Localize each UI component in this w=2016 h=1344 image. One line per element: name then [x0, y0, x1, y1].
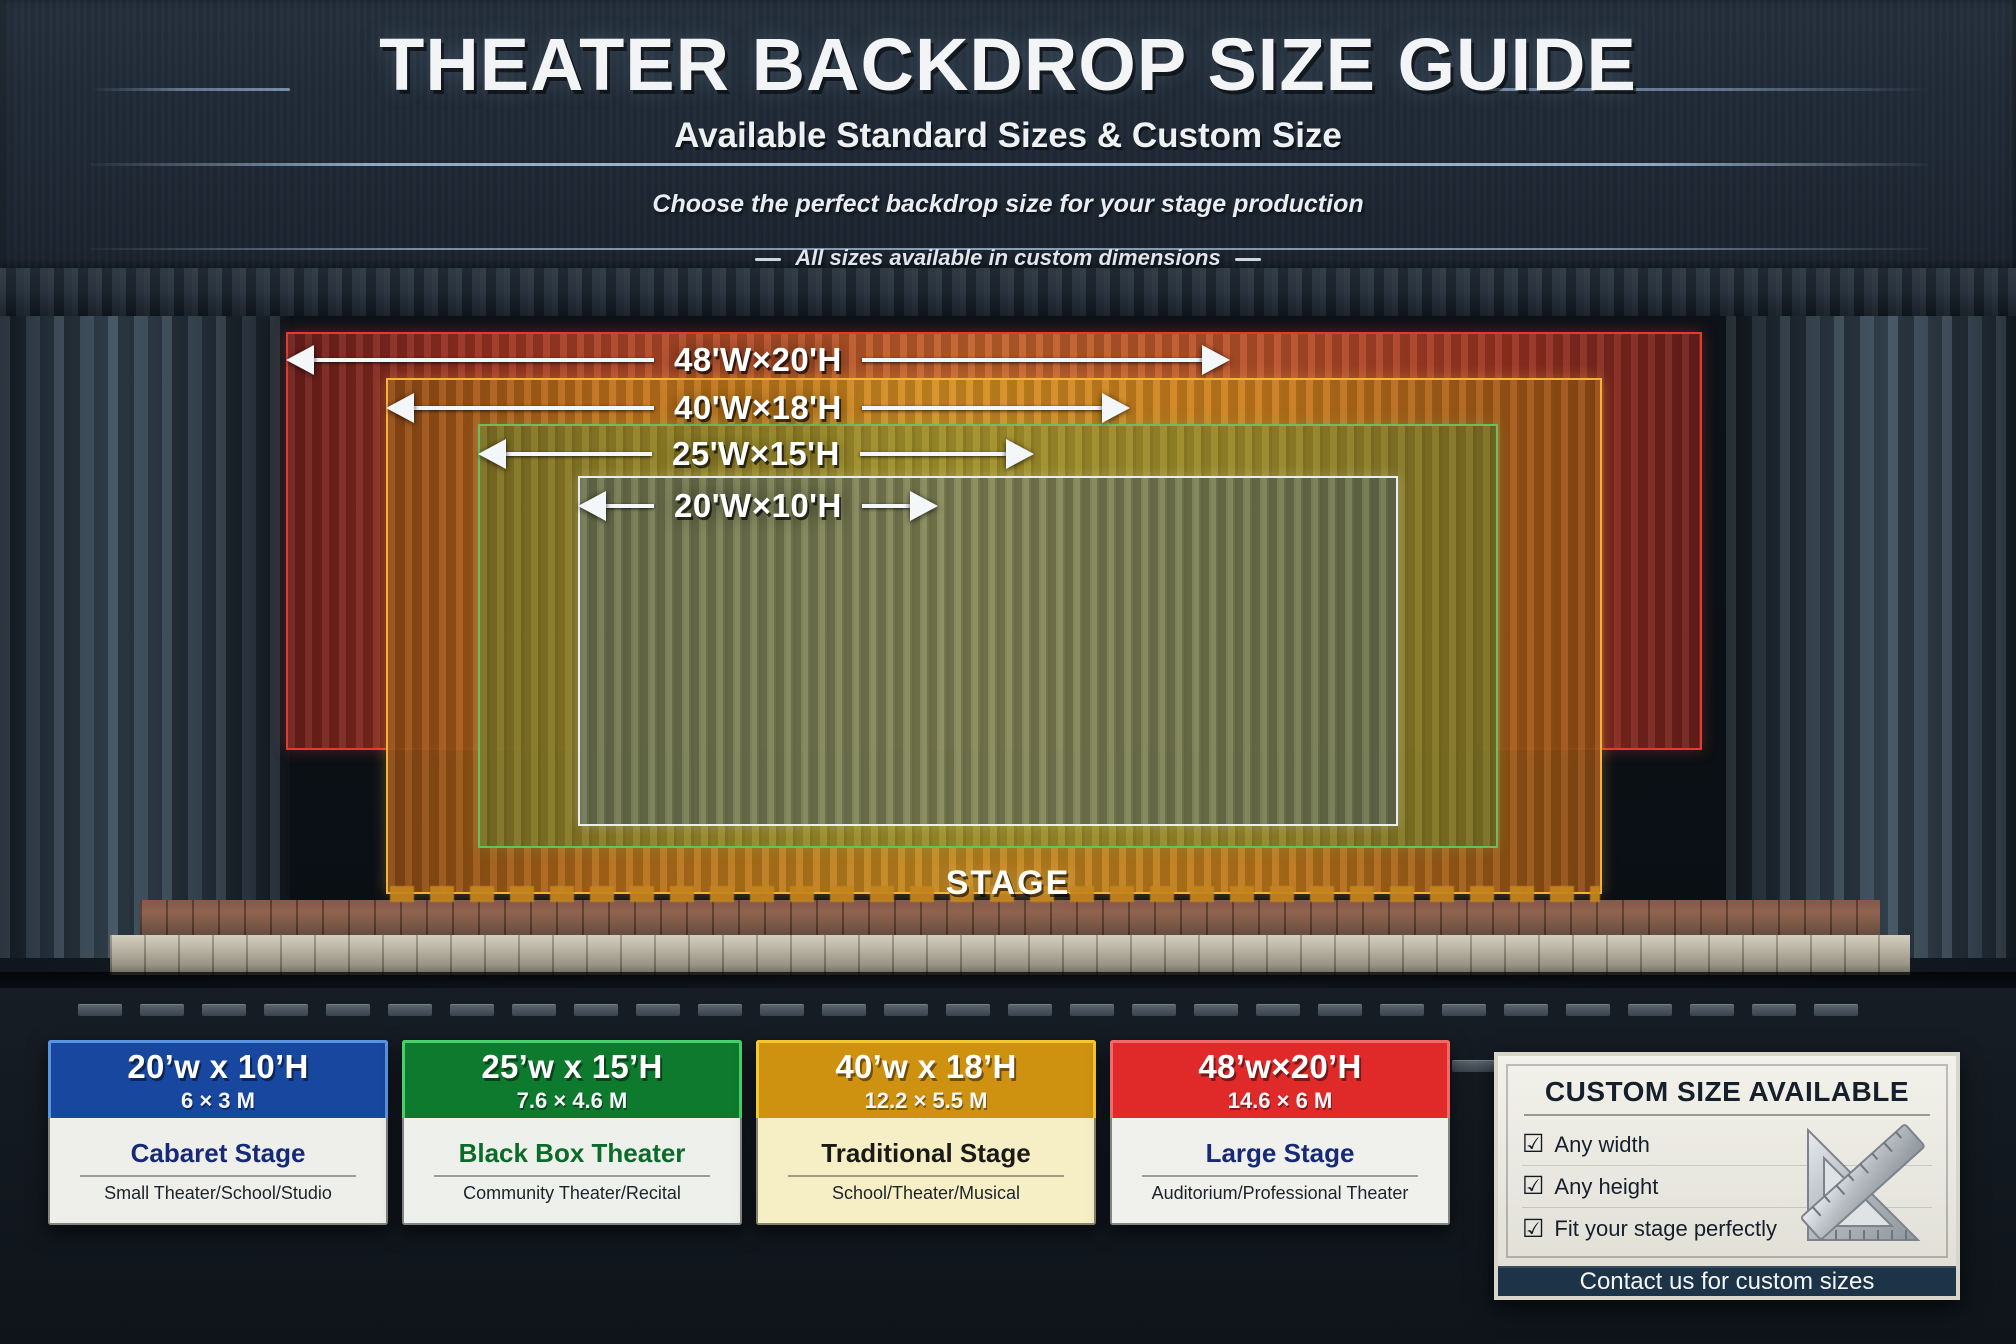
- size-card-2[interactable]: 40’w x 18’H12.2 × 5.5 MTraditional Stage…: [756, 1040, 1096, 1225]
- custom-feature-label-0: Any width: [1554, 1132, 1649, 1158]
- stage-fixture: [78, 1004, 122, 1016]
- size-card-divider-2: [788, 1175, 1063, 1177]
- curtain-right: [1726, 258, 2016, 958]
- checkbox-checked-icon[interactable]: ☑: [1522, 1217, 1544, 1242]
- stage-fixture: [140, 1004, 184, 1016]
- page-tagline: Choose the perfect backdrop size for you…: [0, 190, 2016, 219]
- custom-size-footer[interactable]: Contact us for custom sizes: [1498, 1266, 1956, 1296]
- size-card-0[interactable]: 20’w x 10’H6 × 3 MCabaret StageSmall The…: [48, 1040, 388, 1225]
- size-card-dimension-2: 40’w x 18’H: [835, 1048, 1016, 1086]
- dimension-label-40x18: 40'W×18'H: [654, 389, 862, 427]
- dimension-label-48x20: 48'W×20'H: [654, 341, 862, 379]
- dimension-row-25x15: 25'W×15'H: [506, 434, 1470, 474]
- size-card-name-0: Cabaret Stage: [131, 1138, 306, 1169]
- ruler-triangle-icon: [1786, 1116, 1938, 1252]
- stage-fixture: [574, 1004, 618, 1016]
- page-title: THEATER BACKDROP SIZE GUIDE: [0, 22, 2016, 107]
- custom-size-title: CUSTOM SIZE AVAILABLE: [1522, 1076, 1932, 1108]
- stage-fixture: [884, 1004, 928, 1016]
- stage-fixture: [1814, 1004, 1858, 1016]
- stage-fixture: [1504, 1004, 1548, 1016]
- size-card-use-0: Small Theater/School/Studio: [104, 1183, 332, 1204]
- dimension-row-20x10: 20'W×10'H: [606, 486, 1370, 526]
- size-card-name-3: Large Stage: [1206, 1138, 1355, 1169]
- stage-fixture: [1256, 1004, 1300, 1016]
- size-card-body-2: Traditional StageSchool/Theater/Musical: [756, 1118, 1096, 1225]
- custom-dimensions-note-text: All sizes available in custom dimensions: [795, 245, 1220, 270]
- stage-fixture: [760, 1004, 804, 1016]
- curtain-left: [0, 258, 290, 958]
- custom-dimensions-note: All sizes available in custom dimensions: [0, 245, 2016, 271]
- dash-right-icon: [1235, 258, 1261, 261]
- dimension-row-48x20: 48'W×20'H: [314, 340, 1674, 380]
- checkbox-checked-icon[interactable]: ☑: [1522, 1132, 1544, 1157]
- checkbox-checked-icon[interactable]: ☑: [1522, 1174, 1544, 1199]
- stage-fixture: [636, 1004, 680, 1016]
- stage-label: STAGE: [0, 864, 2016, 903]
- stage-fixture: [388, 1004, 432, 1016]
- stage-fixture: [1008, 1004, 1052, 1016]
- size-card-name-1: Black Box Theater: [459, 1138, 686, 1169]
- size-card-body-3: Large StageAuditorium/Professional Theat…: [1110, 1118, 1450, 1225]
- size-card-divider-0: [80, 1175, 355, 1177]
- size-card-head-2: 40’w x 18’H12.2 × 5.5 M: [756, 1040, 1096, 1118]
- size-card-use-3: Auditorium/Professional Theater: [1152, 1183, 1409, 1204]
- size-card-head-1: 25’w x 15’H7.6 × 4.6 M: [402, 1040, 742, 1118]
- size-card-dimension-0: 20’w x 10’H: [127, 1048, 308, 1086]
- custom-feature-label-1: Any height: [1554, 1174, 1658, 1200]
- size-card-divider-1: [434, 1175, 709, 1177]
- stage-fixture: [1380, 1004, 1424, 1016]
- page-subtitle: Available Standard Sizes & Custom Size: [0, 116, 2016, 156]
- size-card-head-0: 20’w x 10’H6 × 3 M: [48, 1040, 388, 1118]
- size-card-metric-0: 6 × 3 M: [181, 1088, 255, 1114]
- size-card-body-0: Cabaret StageSmall Theater/School/Studio: [48, 1118, 388, 1225]
- stage-fixture: [1442, 1004, 1486, 1016]
- custom-size-panel[interactable]: CUSTOM SIZE AVAILABLE ☑Any width☑Any hei…: [1494, 1052, 1960, 1300]
- dimension-label-25x15: 25'W×15'H: [652, 435, 860, 473]
- size-card-use-1: Community Theater/Recital: [463, 1183, 681, 1204]
- stage-fixture: [1566, 1004, 1610, 1016]
- size-card-body-1: Black Box TheaterCommunity Theater/Recit…: [402, 1118, 742, 1225]
- size-card-divider-3: [1142, 1175, 1417, 1177]
- stage-scene: 48'W×20'H 40'W×18'H 25'W×15'H 20'W×10'H …: [0, 0, 2016, 1344]
- stage-fixture: [264, 1004, 308, 1016]
- size-card-metric-2: 12.2 × 5.5 M: [865, 1088, 988, 1114]
- stage-fixture: [1752, 1004, 1796, 1016]
- fixture-row-top: [78, 1004, 1858, 1016]
- size-card-3[interactable]: 48’w×20’H14.6 × 6 MLarge StageAuditorium…: [1110, 1040, 1450, 1225]
- stage-fixture: [512, 1004, 556, 1016]
- size-card-dimension-3: 48’w×20’H: [1198, 1048, 1361, 1086]
- stage-fixture: [326, 1004, 370, 1016]
- size-card-use-2: School/Theater/Musical: [832, 1183, 1020, 1204]
- size-card-metric-3: 14.6 × 6 M: [1228, 1088, 1333, 1114]
- stage-fixture: [1070, 1004, 1114, 1016]
- stage-fixture: [1690, 1004, 1734, 1016]
- stage-fixture: [202, 1004, 246, 1016]
- stage-fixture: [1628, 1004, 1672, 1016]
- size-card-name-2: Traditional Stage: [821, 1138, 1031, 1169]
- size-card-1[interactable]: 25’w x 15’H7.6 × 4.6 MBlack Box TheaterC…: [402, 1040, 742, 1225]
- stage-fixture: [822, 1004, 866, 1016]
- dash-left-icon: [755, 258, 781, 261]
- dimension-row-40x18: 40'W×18'H: [414, 388, 1574, 428]
- size-card-metric-1: 7.6 × 4.6 M: [517, 1088, 628, 1114]
- stage-apron: [110, 935, 1910, 975]
- size-rect-20x10: [578, 476, 1398, 826]
- custom-feature-label-2: Fit your stage perfectly: [1554, 1216, 1777, 1242]
- stage-fixture: [1452, 1060, 1496, 1072]
- size-card-head-3: 48’w×20’H14.6 × 6 M: [1110, 1040, 1450, 1118]
- stage-fixture: [698, 1004, 742, 1016]
- header-rule-mid: [90, 163, 1928, 166]
- dimension-label-20x10: 20'W×10'H: [654, 487, 862, 525]
- stage-fixture: [1318, 1004, 1362, 1016]
- size-card-dimension-1: 25’w x 15’H: [481, 1048, 662, 1086]
- stage-fixture: [1194, 1004, 1238, 1016]
- stage-fixture: [450, 1004, 494, 1016]
- stage-fixture: [946, 1004, 990, 1016]
- custom-size-inner: CUSTOM SIZE AVAILABLE ☑Any width☑Any hei…: [1506, 1064, 1948, 1258]
- stage-fixture: [1132, 1004, 1176, 1016]
